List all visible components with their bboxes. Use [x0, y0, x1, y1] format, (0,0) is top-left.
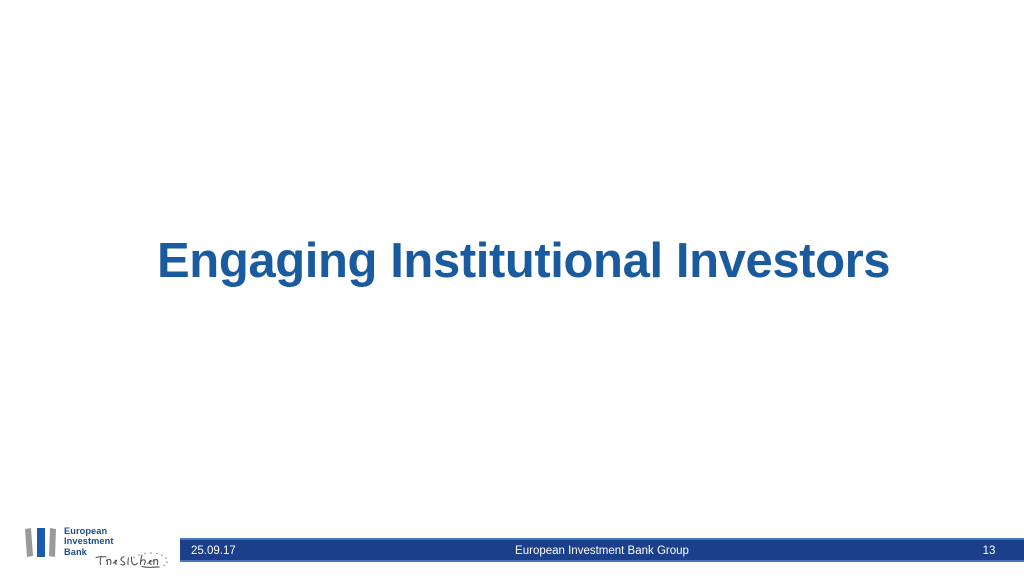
- presentation-slide: Engaging Institutional Investors Europea…: [0, 0, 1024, 576]
- slide-footer-bar: 25.09.17 European Investment Bank Group …: [180, 538, 1024, 562]
- eib-logo-bars-icon: [24, 528, 58, 558]
- eib-logo: European Investment Bank: [24, 526, 174, 570]
- slide-title: Engaging Institutional Investors: [157, 232, 917, 290]
- footer-organization: European Investment Bank Group: [180, 541, 1024, 561]
- footer-page-number: 13: [954, 541, 1024, 561]
- eib-logo-tagline-script: [90, 552, 174, 570]
- eib-wordmark-line-2: Investment: [64, 536, 114, 546]
- eib-wordmark-line-1: European: [64, 526, 114, 536]
